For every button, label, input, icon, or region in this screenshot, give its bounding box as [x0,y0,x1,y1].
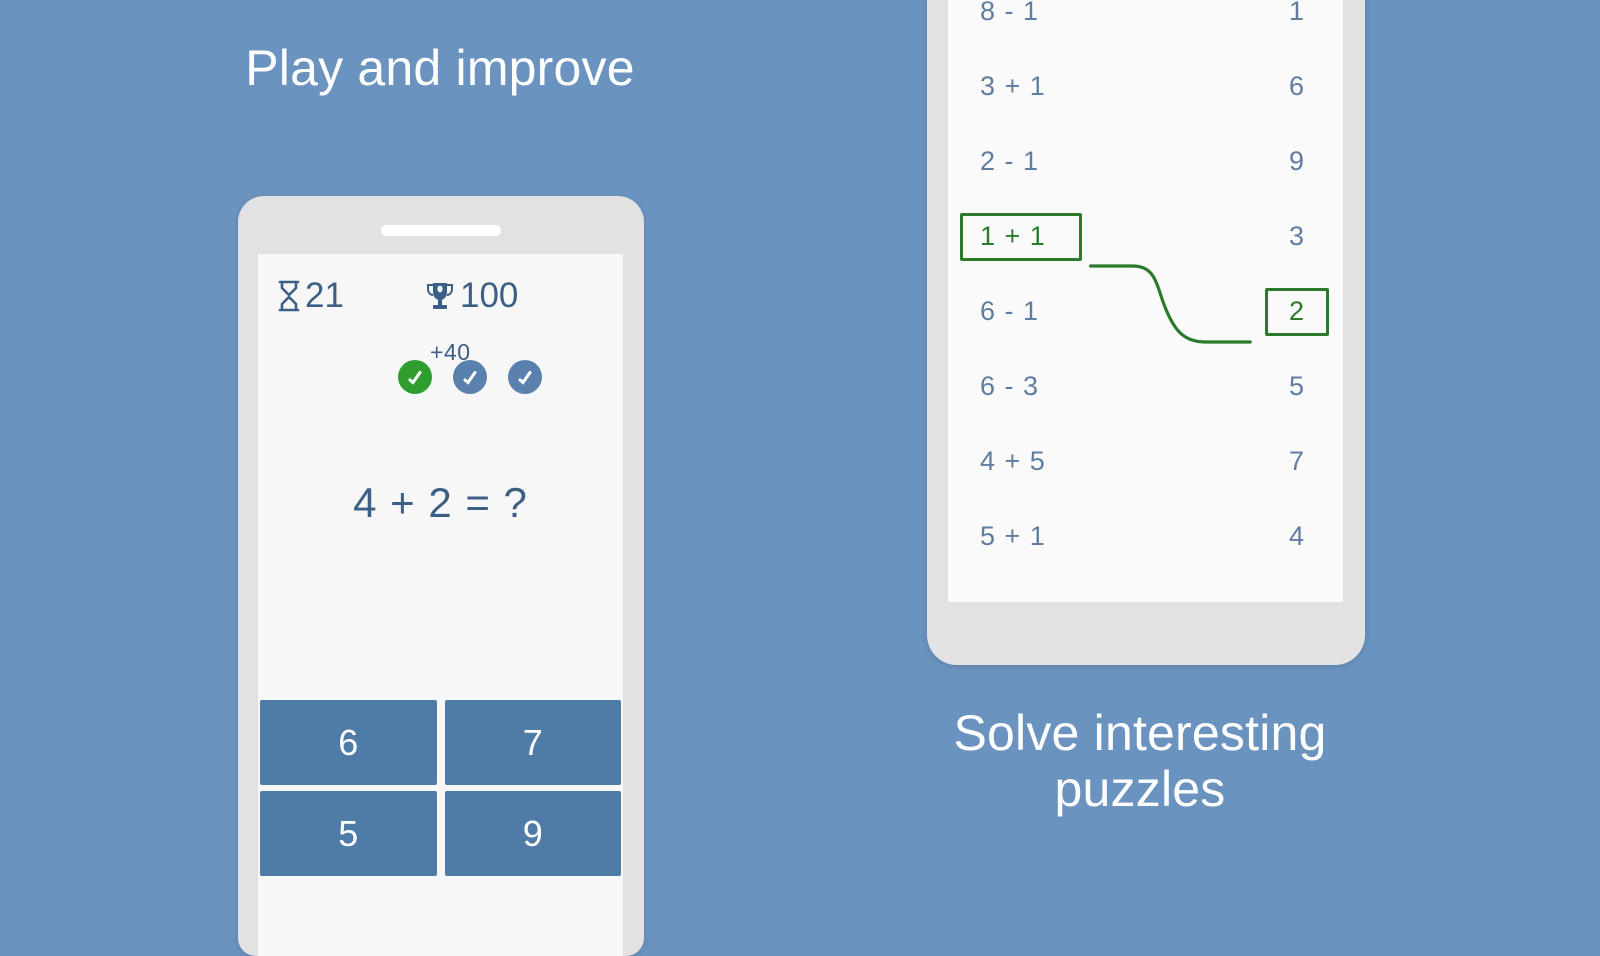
score-stat: 100 [423,276,518,316]
timer-stat: 21 [276,276,344,316]
puzzle-answer-selected[interactable]: 2 [1265,288,1329,336]
puzzle-expression[interactable]: 2 - 1 [960,138,1082,186]
progress-dot-pending [508,360,542,394]
progress-dot-correct [398,360,432,394]
puzzle-answer[interactable]: 6 [1265,63,1329,111]
puzzle-expression[interactable]: 8 - 1 [960,0,1082,36]
puzzle-expression[interactable]: 4 + 5 [960,438,1082,486]
trophy-icon [423,279,457,313]
puzzle-answer[interactable]: 3 [1265,213,1329,261]
answer-grid: 6 7 5 9 [260,700,621,876]
timer-value: 21 [305,276,344,316]
phone-speaker-bar [381,225,501,236]
puzzle-row: 6 - 1 2 [948,274,1343,349]
game-status-bar: 21 100 +40 [258,276,623,320]
caption-play-and-improve: Play and improve [240,40,640,96]
puzzle-expression[interactable]: 6 - 1 [960,288,1082,336]
puzzle-row: 1 + 1 3 [948,199,1343,274]
puzzle-expression[interactable]: 5 + 1 [960,513,1082,561]
game-screen: 21 100 +40 [258,254,623,956]
progress-dots [258,360,623,394]
puzzle-row: 2 - 1 9 [948,124,1343,199]
phone-mockup-game: 21 100 +40 [238,196,644,956]
check-icon [406,368,424,386]
puzzle-answer[interactable]: 1 [1265,0,1329,36]
puzzle-answer[interactable]: 7 [1265,438,1329,486]
check-icon [461,368,479,386]
puzzle-row: 5 + 1 4 [948,499,1343,574]
puzzle-row: 3 + 1 6 [948,49,1343,124]
puzzle-answer[interactable]: 9 [1265,138,1329,186]
answer-button-2[interactable]: 7 [445,700,622,785]
question-text: 4 + 2 = ? [258,479,623,527]
caption-solve-puzzles: Solve interesting puzzles [890,705,1390,817]
puzzle-row: 4 + 5 7 [948,424,1343,499]
answer-button-3[interactable]: 5 [260,791,437,876]
puzzle-screen: 8 - 1 1 3 + 1 6 2 - 1 9 1 + 1 3 6 - 1 2 … [948,0,1343,602]
progress-dot-pending [453,360,487,394]
puzzle-expression-selected[interactable]: 1 + 1 [960,213,1082,261]
puzzle-list: 8 - 1 1 3 + 1 6 2 - 1 9 1 + 1 3 6 - 1 2 … [948,0,1343,574]
answer-button-4[interactable]: 9 [445,791,622,876]
puzzle-answer[interactable]: 5 [1265,363,1329,411]
puzzle-expression[interactable]: 6 - 3 [960,363,1082,411]
puzzle-row: 6 - 3 5 [948,349,1343,424]
score-value: 100 [460,276,518,316]
check-icon [516,368,534,386]
phone-mockup-puzzle: 8 - 1 1 3 + 1 6 2 - 1 9 1 + 1 3 6 - 1 2 … [927,0,1365,665]
puzzle-answer[interactable]: 4 [1265,513,1329,561]
hourglass-icon [276,280,302,312]
puzzle-expression[interactable]: 3 + 1 [960,63,1082,111]
answer-button-1[interactable]: 6 [260,700,437,785]
puzzle-row: 8 - 1 1 [948,0,1343,49]
